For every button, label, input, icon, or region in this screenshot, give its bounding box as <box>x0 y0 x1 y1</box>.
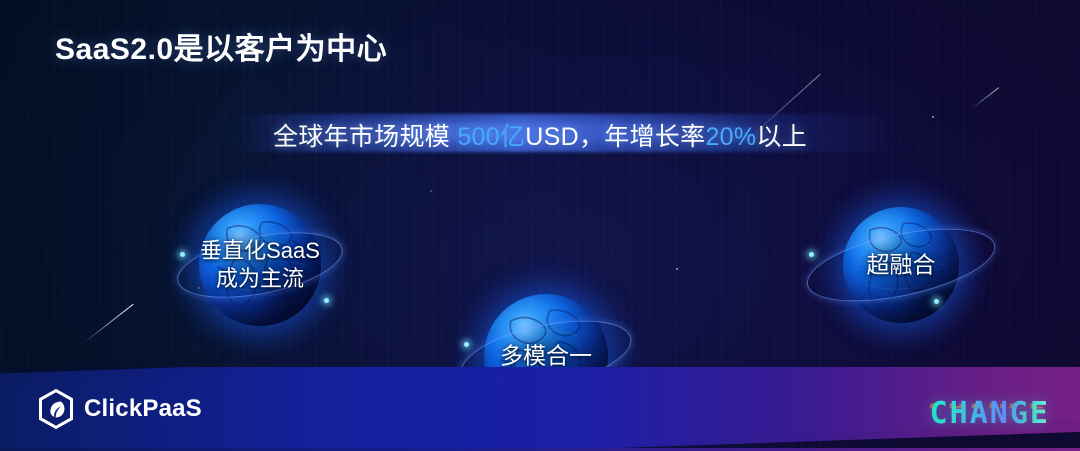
subtitle: 全球年市场规模 500亿USD，年增长率20%以上 <box>0 117 1080 153</box>
subtitle-market-size: 500亿 <box>457 123 525 151</box>
globe-label-line1: 垂直化SaaS <box>200 237 320 265</box>
orbit-dot-left <box>464 342 469 347</box>
campaign-wordmark[interactable]: CHANGE <box>930 396 1050 431</box>
brand-logo[interactable]: ClickPaaS <box>38 389 202 429</box>
subtitle-growth-rate: 20% <box>705 123 756 151</box>
orbit-dot-left <box>809 252 814 257</box>
orbit-dot-right <box>934 299 939 304</box>
shooting-star-streak-left <box>83 304 134 344</box>
subtitle-prefix: 全球年市场规模 <box>273 123 457 151</box>
brand-name: ClickPaaS <box>84 395 202 423</box>
globe-label-line1: 超融合 <box>867 250 936 279</box>
star-dot-5 <box>430 190 432 192</box>
globe-label-line2: 成为主流 <box>200 265 320 293</box>
orbit-dot-right <box>324 298 329 303</box>
orbit-dot-left <box>180 252 185 257</box>
globe-item-vertical-saas[interactable]: 垂直化SaaS 成为主流 <box>175 180 345 350</box>
clickpaas-hexagon-icon <box>38 389 74 429</box>
page-title: SaaS2.0是以客户为中心 <box>55 24 387 68</box>
subtitle-suffix: 以上 <box>756 123 807 151</box>
slide-canvas: SaaS2.0是以客户为中心 全球年市场规模 500亿USD，年增长率20%以上 <box>0 0 1080 451</box>
globe-item-hyperconverged[interactable]: 超融合 <box>818 182 984 348</box>
globe-label-vertical-saas: 垂直化SaaS 成为主流 <box>200 237 320 293</box>
star-dot-1 <box>676 268 678 270</box>
globe-label-hyperconverged: 超融合 <box>867 250 936 279</box>
subtitle-middle: USD，年增长率 <box>525 123 705 151</box>
shooting-star-streak-right <box>972 87 1000 109</box>
